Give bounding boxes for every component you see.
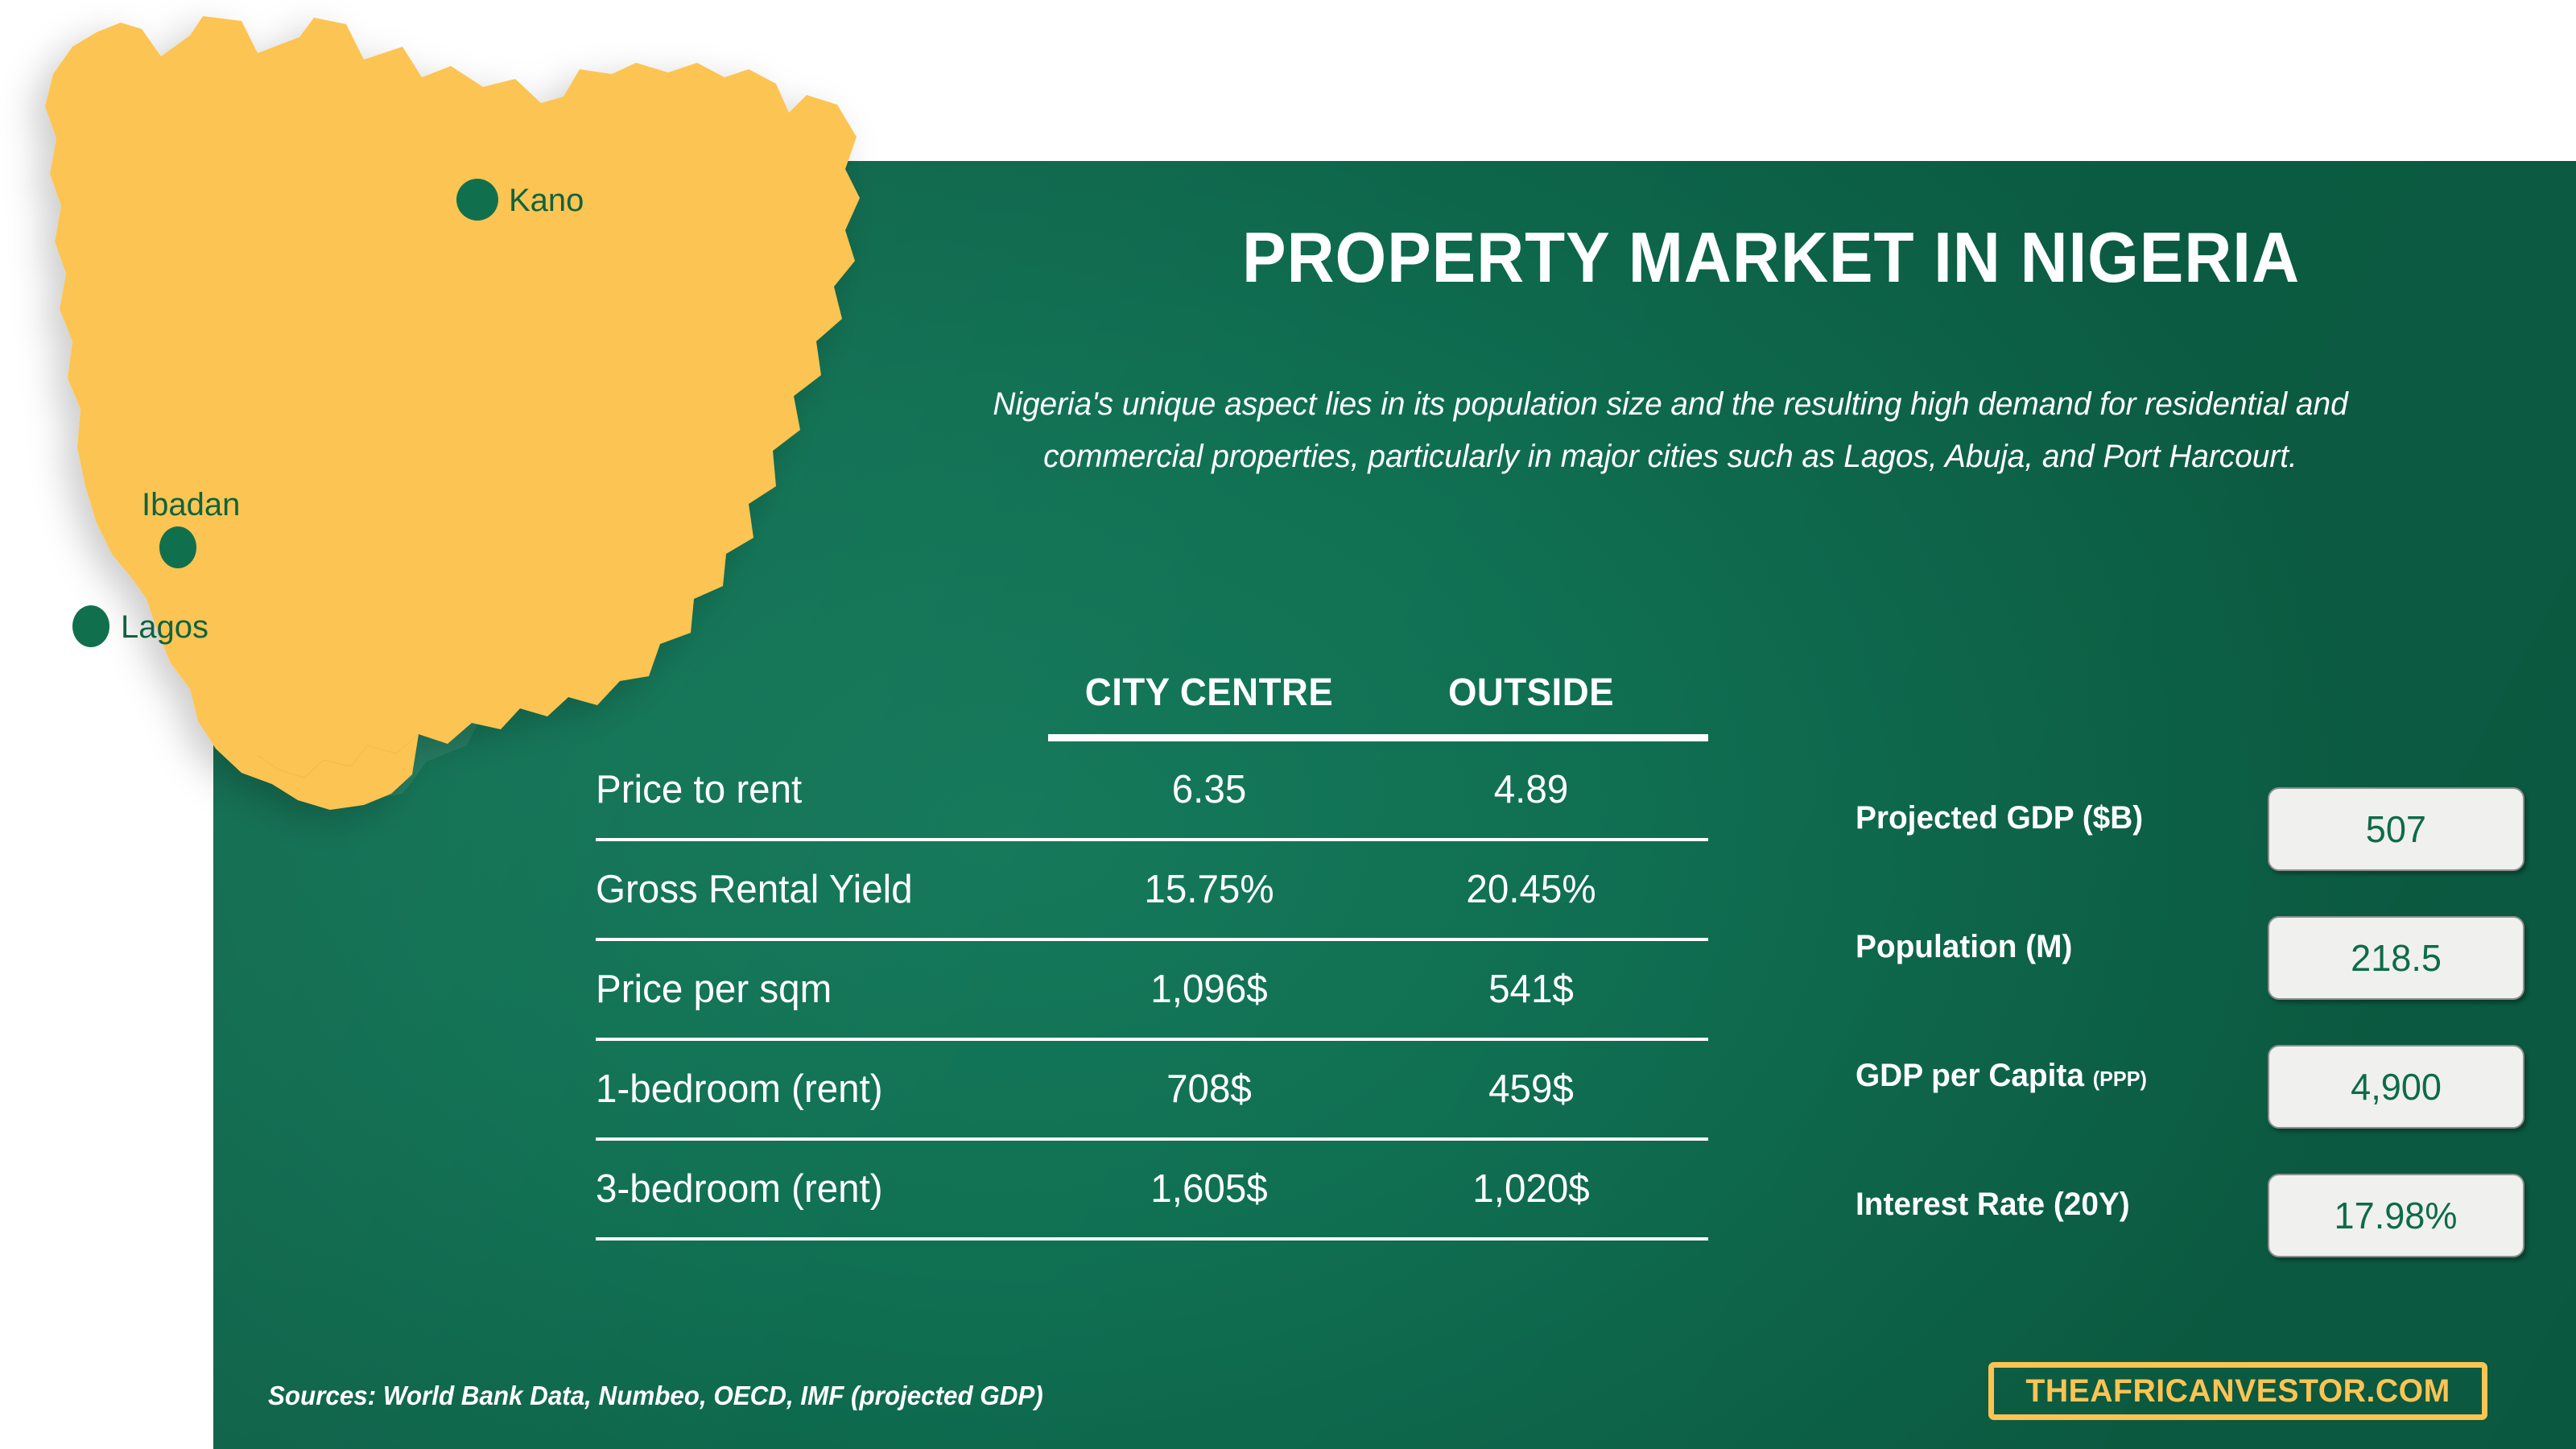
row-label-1-bedroom-rent: 1-bedroom (rent)	[596, 1067, 1034, 1112]
stat-box-projected-gdp: 507	[2268, 787, 2524, 871]
row-value-gross-rental-yield-city-centre: 15.75%	[1053, 867, 1365, 912]
stat-box-population: 218.5	[2268, 916, 2524, 1000]
row-value-gross-rental-yield-outside: 20.45%	[1375, 867, 1687, 912]
city-dot-kano	[456, 179, 498, 221]
row-value-3-bedroom-rent-outside: 1,020$	[1375, 1166, 1687, 1212]
brand-badge[interactable]: THEAFRICANVESTOR.COM	[1988, 1362, 2487, 1420]
page-title: PROPERTY MARKET IN NIGERIA	[1127, 222, 2415, 293]
stat-value-projected-gdp: 507	[2366, 807, 2426, 851]
stat-label-gdp-per-capita-sub: (PPP)	[2093, 1067, 2147, 1091]
row-label-gross-rental-yield: Gross Rental Yield	[596, 867, 1034, 912]
macro-stats-panel: Projected GDP ($B) 507 Population (M) 21…	[1856, 773, 2524, 1288]
stat-label-gdp-per-capita: GDP per Capita (PPP)	[1856, 1058, 2147, 1094]
infographic-canvas: PROPERTY MARKET IN NIGERIA Nigeria's uni…	[0, 0, 2576, 1449]
row-value-price-per-sqm-outside: 541$	[1375, 967, 1687, 1012]
city-label-ibadan: Ibadan	[142, 487, 240, 522]
nigeria-map-svg: Kano Ibadan Lagos	[0, 0, 998, 861]
row-value-1-bedroom-rent-outside: 459$	[1375, 1067, 1687, 1112]
city-dot-ibadan	[159, 526, 196, 568]
page-subtitle: Nigeria's unique aspect lies in its popu…	[932, 378, 2408, 483]
nigeria-map: Kano Ibadan Lagos	[0, 0, 998, 861]
stat-interest-rate: Interest Rate (20Y) 17.98%	[1856, 1159, 2524, 1288]
stat-gdp-per-capita: GDP per Capita (PPP) 4,900	[1856, 1030, 2524, 1159]
stat-value-gdp-per-capita: 4,900	[2351, 1065, 2442, 1108]
row-value-price-to-rent-city-centre: 6.35	[1053, 767, 1365, 812]
row-divider	[596, 1237, 1708, 1241]
brand-badge-label: THEAFRICANVESTOR.COM	[2025, 1373, 2450, 1410]
stat-label-interest-rate: Interest Rate (20Y)	[1856, 1187, 2130, 1223]
city-label-kano: Kano	[509, 183, 584, 218]
stat-label-gdp-per-capita-main: GDP per Capita	[1856, 1058, 2084, 1093]
stat-label-projected-gdp: Projected GDP ($B)	[1856, 800, 2143, 836]
column-header-outside: OUTSIDE	[1378, 671, 1684, 715]
table-row: 1-bedroom (rent) 708$ 459$	[596, 1041, 1708, 1137]
table-row: Price per sqm 1,096$ 541$	[596, 941, 1708, 1038]
stat-value-interest-rate: 17.98%	[2334, 1194, 2458, 1237]
table-row: 3-bedroom (rent) 1,605$ 1,020$	[596, 1141, 1708, 1237]
table-header-rule	[1048, 734, 1708, 741]
stat-value-population: 218.5	[2351, 936, 2442, 980]
stat-population: Population (M) 218.5	[1856, 902, 2524, 1030]
city-dot-lagos	[72, 605, 109, 647]
city-label-lagos: Lagos	[121, 609, 208, 645]
stat-label-population: Population (M)	[1856, 929, 2072, 965]
row-value-price-to-rent-outside: 4.89	[1375, 767, 1687, 812]
row-label-price-per-sqm: Price per sqm	[596, 967, 1034, 1012]
stat-projected-gdp: Projected GDP ($B) 507	[1856, 773, 2524, 902]
row-value-price-per-sqm-city-centre: 1,096$	[1053, 967, 1365, 1012]
sources-note: Sources: World Bank Data, Numbeo, OECD, …	[268, 1381, 1043, 1411]
column-header-city-centre: CITY CENTRE	[1056, 671, 1362, 715]
row-value-1-bedroom-rent-city-centre: 708$	[1053, 1067, 1365, 1112]
nigeria-country-shape	[45, 16, 860, 778]
row-label-3-bedroom-rent: 3-bedroom (rent)	[596, 1166, 1034, 1212]
stat-box-gdp-per-capita: 4,900	[2268, 1045, 2524, 1129]
stat-box-interest-rate: 17.98%	[2268, 1174, 2524, 1257]
row-value-3-bedroom-rent-city-centre: 1,605$	[1053, 1166, 1365, 1212]
